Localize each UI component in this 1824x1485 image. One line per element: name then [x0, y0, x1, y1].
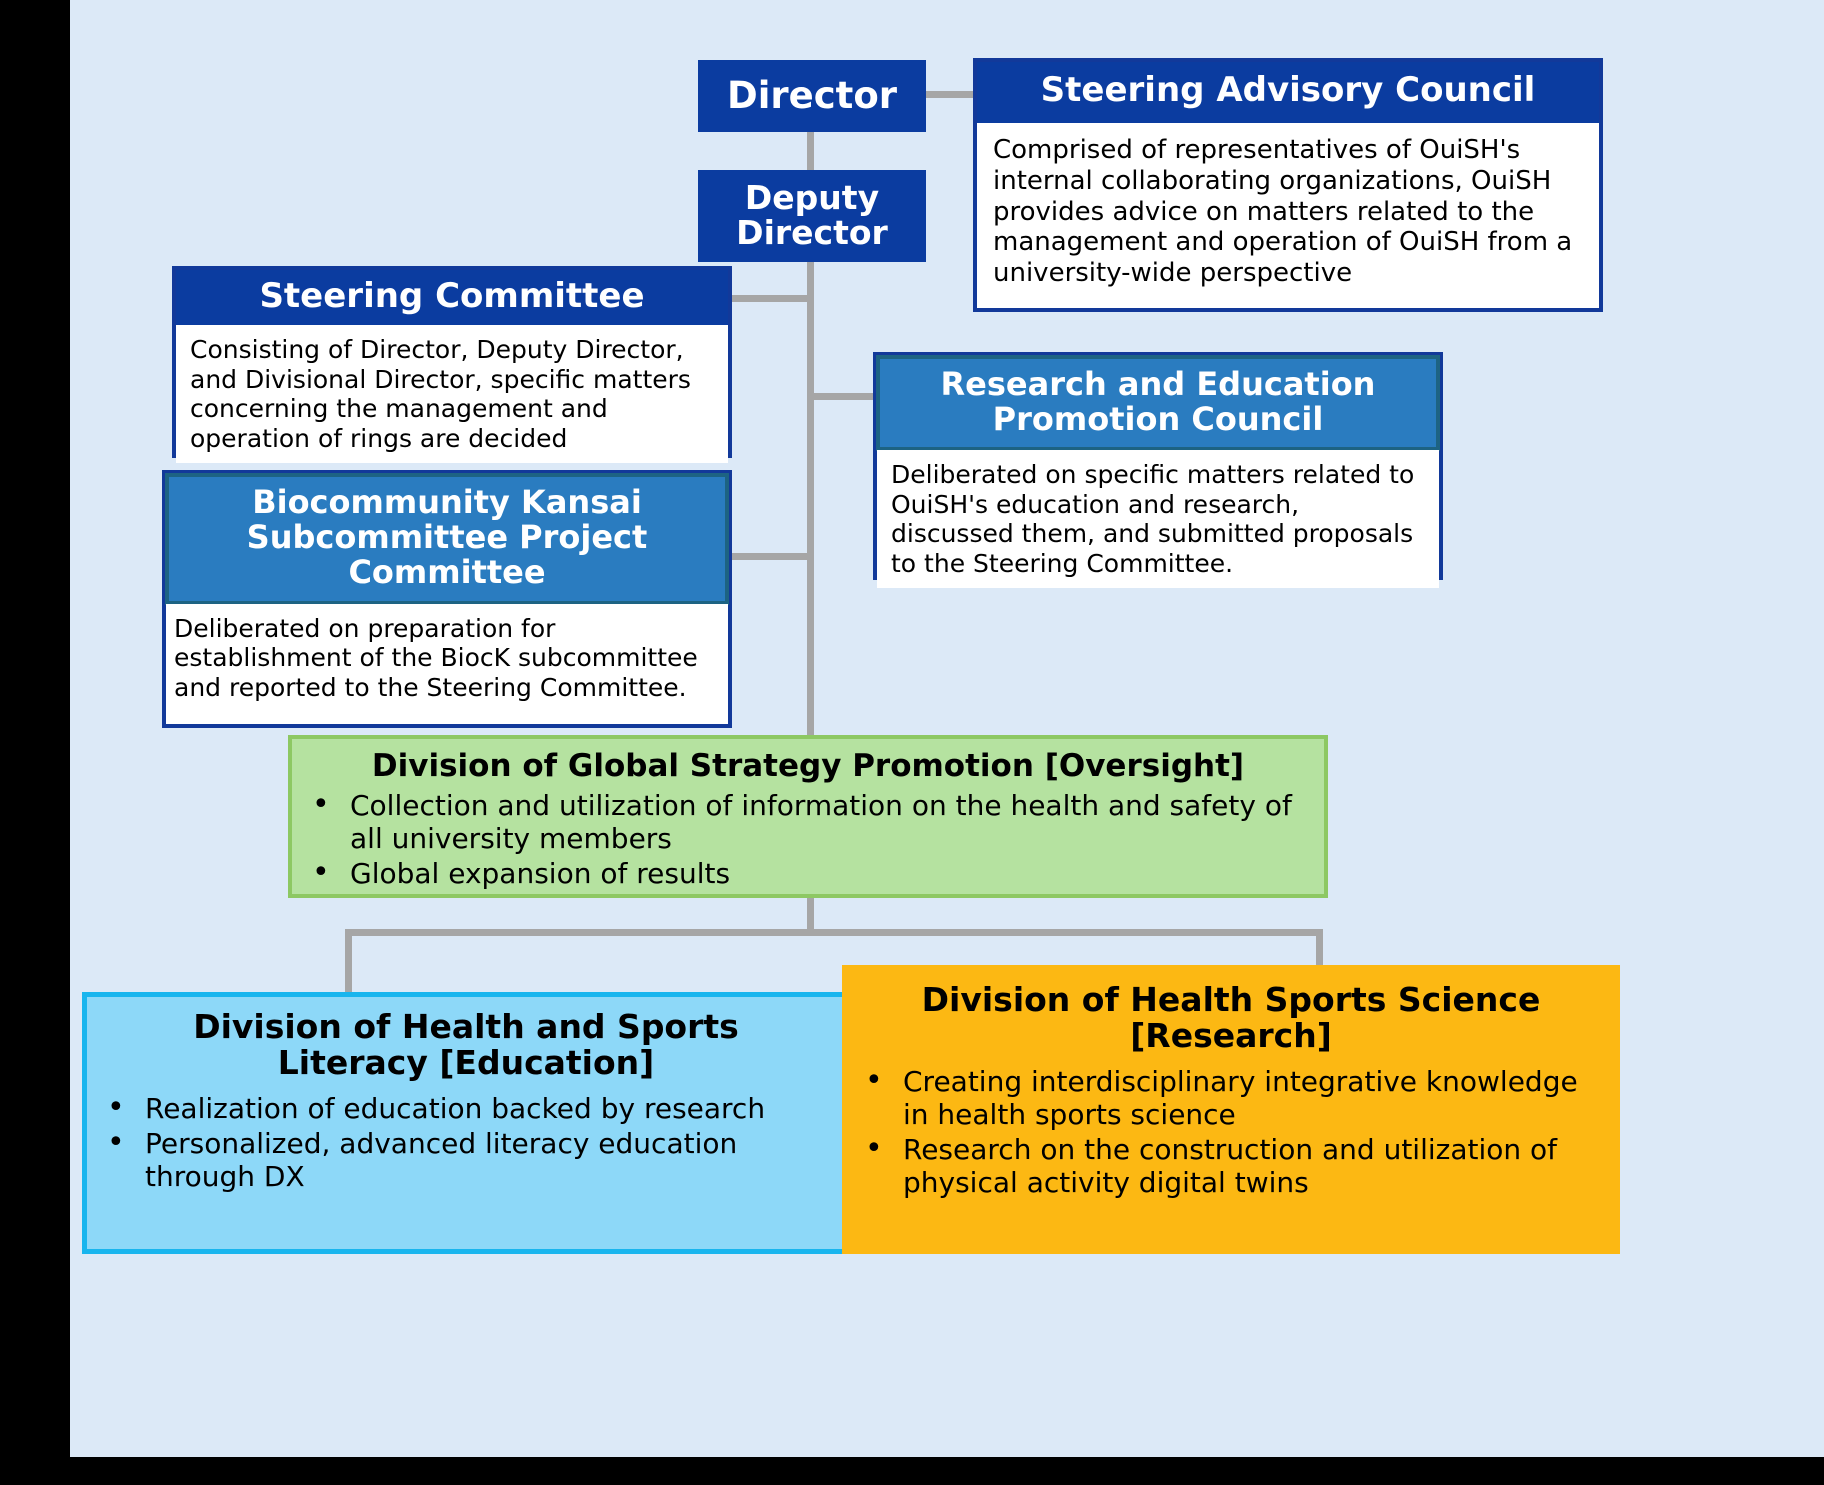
- division-health-sports-literacy-title-line1: Division of Health and Sports: [95, 1009, 837, 1045]
- steering-committee-body: Consisting of Director, Deputy Director,…: [176, 325, 728, 463]
- division-health-sports-literacy-title-line2: Literacy [Education]: [95, 1045, 837, 1081]
- division-health-sports-science-title-line1: Division of Health Sports Science: [853, 982, 1609, 1018]
- connector-main-trunk-top: [807, 129, 814, 172]
- biocommunity-body: Deliberated on preparation for establish…: [166, 604, 728, 713]
- node-division-health-sports-literacy[interactable]: Division of Health and Sports Literacy […: [82, 992, 850, 1254]
- node-biocommunity-kansai-subcommittee[interactable]: Biocommunity Kansai Subcommittee Project…: [162, 470, 732, 728]
- steering-committee-title: Steering Committee: [176, 270, 728, 325]
- director-label: Director: [727, 76, 897, 115]
- node-division-health-sports-science[interactable]: Division of Health Sports Science [Resea…: [842, 965, 1620, 1254]
- connector-trunk-to-biocommunity: [725, 553, 810, 560]
- list-item: Personalized, advanced literacy educatio…: [87, 1127, 829, 1193]
- connector-main-trunk: [807, 255, 814, 740]
- biocommunity-title: Biocommunity Kansai Subcommittee Project…: [165, 473, 729, 605]
- research-council-title: Research and Education Promotion Council: [876, 355, 1440, 451]
- biocommunity-title-line3: Committee: [175, 555, 719, 590]
- division-global-strategy-bullets: Collection and utilization of informatio…: [292, 789, 1324, 890]
- steering-advisory-council-title: Steering Advisory Council: [977, 62, 1599, 123]
- deputy-director-label-line2: Director: [736, 216, 888, 251]
- node-steering-advisory-council[interactable]: Steering Advisory Council Comprised of r…: [973, 58, 1603, 312]
- node-research-education-promotion-council[interactable]: Research and Education Promotion Council…: [873, 352, 1443, 580]
- division-health-sports-science-title-line2: [Research]: [853, 1018, 1609, 1054]
- bottom-black-margin: [0, 1457, 1824, 1485]
- connector-trunk-to-steering-committee: [725, 295, 810, 302]
- node-division-global-strategy[interactable]: Division of Global Strategy Promotion [O…: [288, 735, 1328, 898]
- connector-green-to-bottom-stem: [807, 896, 814, 930]
- connector-trunk-to-research-council: [807, 393, 877, 400]
- biocommunity-title-line1: Biocommunity Kansai: [175, 485, 719, 520]
- connector-director-to-advisory: [926, 91, 976, 98]
- division-health-sports-literacy-title: Division of Health and Sports Literacy […: [87, 997, 845, 1086]
- biocommunity-title-line2: Subcommittee Project: [175, 520, 719, 555]
- list-item: Realization of education backed by resea…: [87, 1092, 829, 1125]
- list-item: Collection and utilization of informatio…: [292, 789, 1298, 855]
- deputy-director-label-line1: Deputy: [745, 181, 879, 216]
- research-council-title-line1: Research and Education: [886, 367, 1430, 402]
- division-health-sports-science-bullets: Creating interdisciplinary integrative k…: [845, 1059, 1617, 1199]
- connector-bus-to-left-division: [345, 929, 352, 994]
- connector-bottom-bus: [345, 929, 1323, 936]
- division-health-sports-science-title: Division of Health Sports Science [Resea…: [845, 968, 1617, 1059]
- division-health-sports-literacy-bullets: Realization of education backed by resea…: [87, 1086, 845, 1193]
- list-item: Research on the construction and utiliza…: [845, 1133, 1597, 1199]
- list-item: Global expansion of results: [292, 857, 1298, 890]
- node-steering-committee[interactable]: Steering Committee Consisting of Directo…: [172, 266, 732, 458]
- node-director[interactable]: Director: [698, 60, 926, 132]
- research-council-title-line2: Promotion Council: [886, 402, 1430, 437]
- division-global-strategy-title: Division of Global Strategy Promotion [O…: [292, 739, 1324, 789]
- node-deputy-director[interactable]: Deputy Director: [698, 170, 926, 262]
- research-council-body: Deliberated on specific matters related …: [877, 450, 1439, 588]
- list-item: Creating interdisciplinary integrative k…: [845, 1065, 1597, 1131]
- steering-advisory-council-body: Comprised of representatives of OuiSH's …: [977, 123, 1599, 298]
- org-chart-canvas: Director Deputy Director Steering Adviso…: [70, 0, 1824, 1457]
- left-black-margin: [0, 0, 70, 1485]
